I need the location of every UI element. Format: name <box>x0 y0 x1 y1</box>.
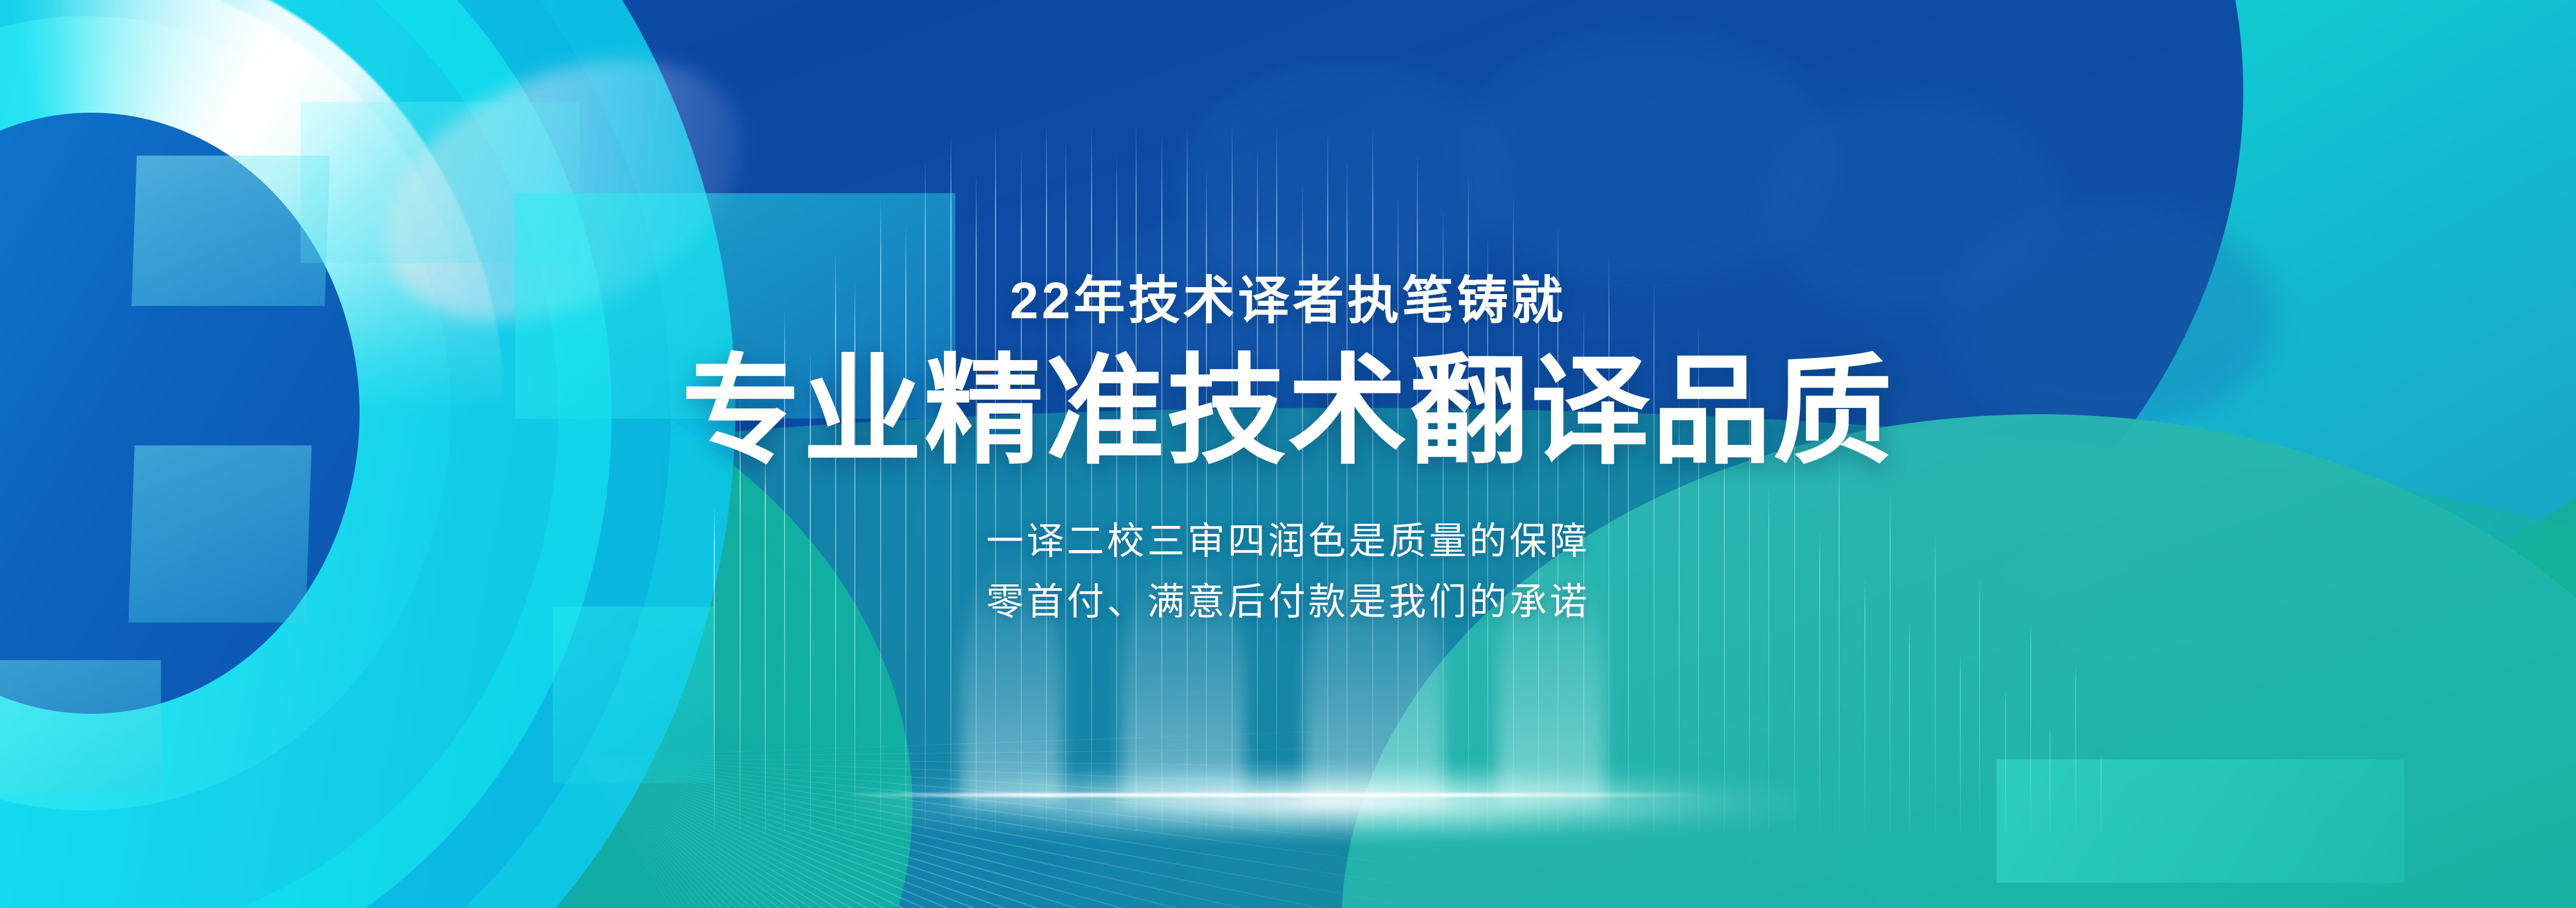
banner-eyebrow: 22年技术译者执笔铸就 <box>1010 275 1567 327</box>
banner-headline: 专业精准技术翻译品质 <box>682 350 1894 473</box>
banner-tagline-1: 一译二校三审四润色是质量的保障 <box>986 511 1590 572</box>
banner-taglines: 一译二校三审四润色是质量的保障 零首付、满意后付款是我们的承诺 <box>986 511 1590 633</box>
banner-text-block: 22年技术译者执笔铸就 专业精准技术翻译品质 一译二校三审四润色是质量的保障 零… <box>0 0 2576 908</box>
banner-tagline-2: 零首付、满意后付款是我们的承诺 <box>986 572 1590 632</box>
promo-banner: 22年技术译者执笔铸就 专业精准技术翻译品质 一译二校三审四润色是质量的保障 零… <box>0 0 2576 908</box>
